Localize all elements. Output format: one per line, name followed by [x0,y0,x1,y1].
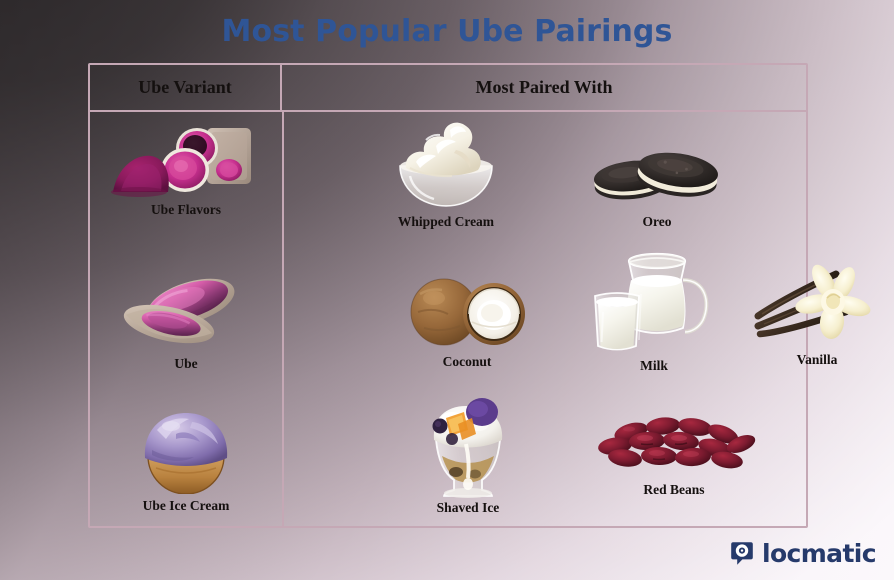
table-header-row: Ube Variant Most Paired With [90,65,806,112]
pair-label: Oreo [572,214,742,230]
vanilla-flower-and-beans-image [752,264,882,348]
ube-ice-cream-scoop-image [126,406,246,494]
locmatic-logo[interactable]: locmatic [729,540,876,566]
coconut-halves-image [402,268,532,350]
table-row: Ube [90,258,282,400]
pair-label: Milk [574,358,734,374]
pair-coconut: Coconut [392,268,542,370]
ube-powder-and-slices-image [111,122,261,200]
pair-vanilla: Vanilla [742,264,892,368]
variant-label: Ube Flavors [90,202,282,218]
whipped-cream-bowl-image [386,110,506,212]
pair-milk: Milk [574,246,734,374]
ube-root-halves-image [111,268,261,348]
variant-ube-flavors: Ube Flavors [90,122,282,218]
pair-label: Red Beans [584,482,764,498]
table-row: Whipped Cream [284,112,806,258]
pair-oreo: Oreo [572,132,742,230]
logo-text: locmatic [762,541,876,566]
pair-label: Coconut [392,354,542,370]
pair-label: Shaved Ice [394,500,542,516]
location-pin-icon [729,540,755,566]
red-kidney-beans-image [589,408,759,478]
variant-ube-ice-cream: Ube Ice Cream [90,406,282,514]
milk-pitcher-and-glass-image [579,246,729,356]
pair-label: Vanilla [742,352,892,368]
most-paired-with-column: Whipped Cream [284,112,806,526]
pairings-table: Ube Variant Most Paired With [88,63,808,528]
column-header-ube-variant: Ube Variant [90,65,282,110]
pair-label: Whipped Cream [366,214,526,230]
variant-ube: Ube [90,268,282,372]
halo-halo-shaved-ice-image [412,396,524,500]
table-row: Coconut [284,258,806,400]
variant-label: Ube Ice Cream [90,498,282,514]
table-row: Ube Flavors [90,112,282,258]
variant-label: Ube [90,356,282,372]
table-row: Shaved Ice [284,400,806,530]
pair-shaved-ice: Shaved Ice [394,396,542,516]
infographic-poster: Most Popular Ube Pairings Ube Variant Mo… [0,0,894,580]
table-row: Ube Ice Cream [90,400,282,530]
page-title: Most Popular Ube Pairings [0,14,894,49]
pair-red-beans: Red Beans [584,408,764,498]
ube-variant-column: Ube Flavors [90,112,282,526]
column-header-most-paired-with: Most Paired With [282,65,806,110]
pair-whipped-cream: Whipped Cream [366,110,526,230]
oreo-cookies-image [582,132,732,212]
